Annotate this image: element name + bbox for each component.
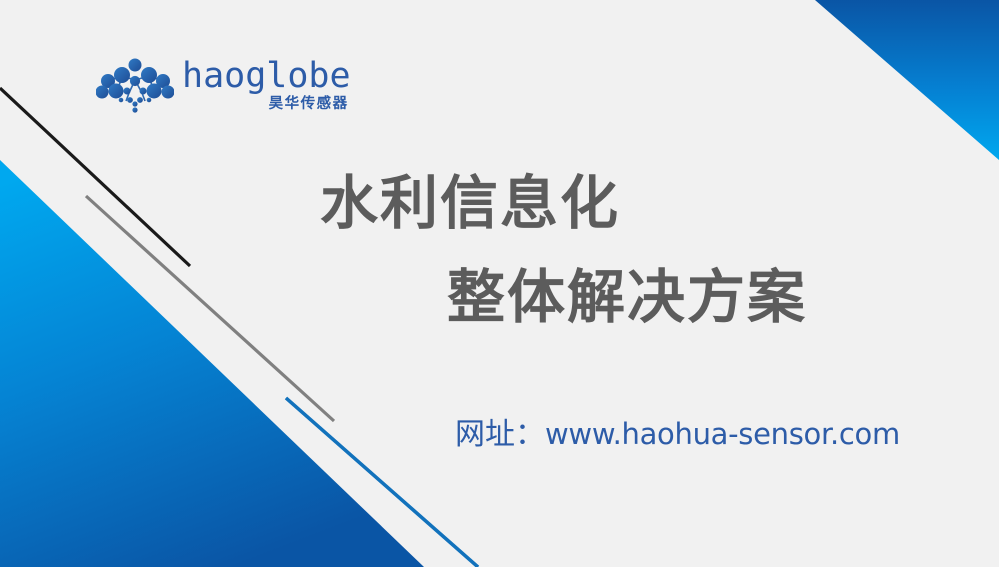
page-title-line-2: 整体解决方案 <box>447 268 807 326</box>
blue-diagonal-line-lower <box>286 398 478 567</box>
haoglobe-network-dots-icon <box>96 56 174 114</box>
black-diagonal-line <box>0 88 190 266</box>
slide-canvas: haoglobe 昊华传感器 水利信息化 整体解决方案 网址：www.haohu… <box>0 0 999 567</box>
website-line: 网址：www.haohua-sensor.com <box>455 420 900 450</box>
top-right-triangle <box>815 0 999 160</box>
page-title-line-1: 水利信息化 <box>320 174 620 232</box>
website-label: 网址： <box>455 417 545 452</box>
company-logo: haoglobe 昊华传感器 <box>96 56 351 114</box>
logo-text-group: haoglobe 昊华传感器 <box>182 59 351 112</box>
blue-diagonal-line-upper <box>286 398 478 567</box>
logo-subtext: 昊华传感器 <box>269 97 349 112</box>
logo-wordmark: haoglobe <box>182 59 351 94</box>
gray-diagonal-line <box>86 196 334 421</box>
website-url[interactable]: www.haohua-sensor.com <box>545 417 900 451</box>
